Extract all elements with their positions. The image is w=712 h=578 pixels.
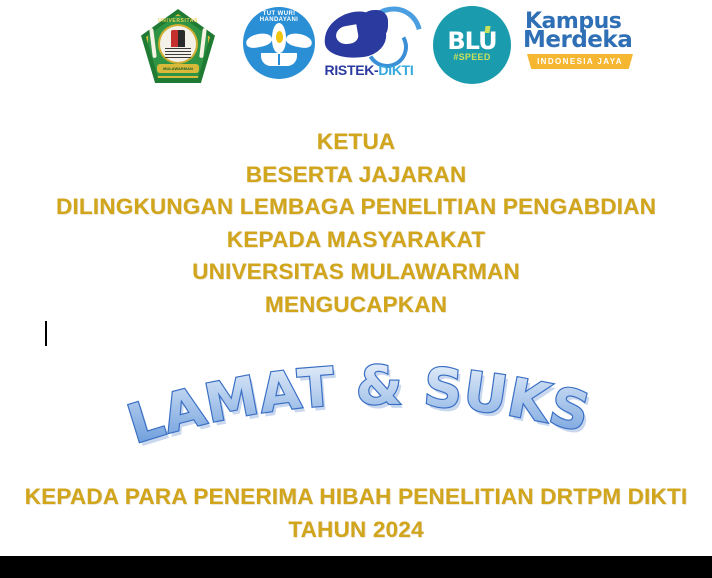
wordart-block: SELAMAT & SUKSES SELAMAT & SUKSES <box>0 360 712 450</box>
kampus-merdeka-line2: Merdeka <box>523 30 632 51</box>
slide-canvas: UNIVERSITAS MULAWARMAN TUT WURI HANDAYAN… <box>0 0 712 578</box>
footer-block: KEPADA PARA PENERIMA HIBAH PENELITIAN DR… <box>0 480 712 546</box>
heading-line-1: KETUA <box>0 126 712 159</box>
kampus-merdeka-banner: INDONESIA JAYA <box>527 54 633 69</box>
heading-line-4: KEPADA MASYARAKAT <box>0 224 712 257</box>
tut-wuri-handayani-logo: TUT WURI HANDAYANI <box>243 4 319 84</box>
ristek-dikti-logo: RISTEK-DIKTI <box>322 4 416 90</box>
tutwuri-arc-text: TUT WURI HANDAYANI <box>243 11 315 23</box>
footer-line-1: KEPADA PARA PENERIMA HIBAH PENELITIAN DR… <box>0 480 712 513</box>
tutwuri-book-icon <box>261 53 297 66</box>
bottom-black-bar <box>0 556 712 578</box>
universitas-mulawarman-logo: UNIVERSITAS MULAWARMAN <box>139 4 217 88</box>
unmul-emblem-mark <box>171 30 185 47</box>
text-cursor-caret[interactable] <box>45 321 47 346</box>
logo-row: UNIVERSITAS MULAWARMAN TUT WURI HANDAYAN… <box>0 4 712 96</box>
blu-label: BLU <box>433 27 511 55</box>
unmul-ribbon-text: MULAWARMAN <box>157 64 199 73</box>
unmul-emblem-base <box>165 48 191 58</box>
ristek-label-primary: RISTEK- <box>325 62 379 78</box>
heading-line-3: DILINGKUNGAN LEMBAGA PENELITIAN PENGABDI… <box>0 191 712 224</box>
heading-line-2: BESERTA JAJARAN <box>0 159 712 192</box>
tutwuri-flame-icon <box>276 31 283 43</box>
unmul-arc-text: UNIVERSITAS <box>155 18 201 30</box>
wordart-svg: SELAMAT & SUKSES SELAMAT & SUKSES <box>0 360 712 450</box>
heading-line-5: UNIVERSITAS MULAWARMAN <box>0 256 712 289</box>
kampus-merdeka-logo: Kampus Merdeka INDONESIA JAYA <box>523 4 635 76</box>
ristek-dikti-label: RISTEK-DIKTI <box>322 62 416 78</box>
heading-line-6: MENGUCAPKAN <box>0 289 712 322</box>
blu-logo: BLU #SPEED <box>433 4 513 84</box>
heading-block: KETUA BESERTA JAJARAN DILINGKUNGAN LEMBA… <box>0 126 712 321</box>
ristek-blob-secondary <box>358 10 388 40</box>
footer-line-2: TAHUN 2024 <box>0 513 712 546</box>
blu-tagline: #SPEED <box>433 52 511 62</box>
ristek-label-secondary: DIKTI <box>378 62 413 78</box>
